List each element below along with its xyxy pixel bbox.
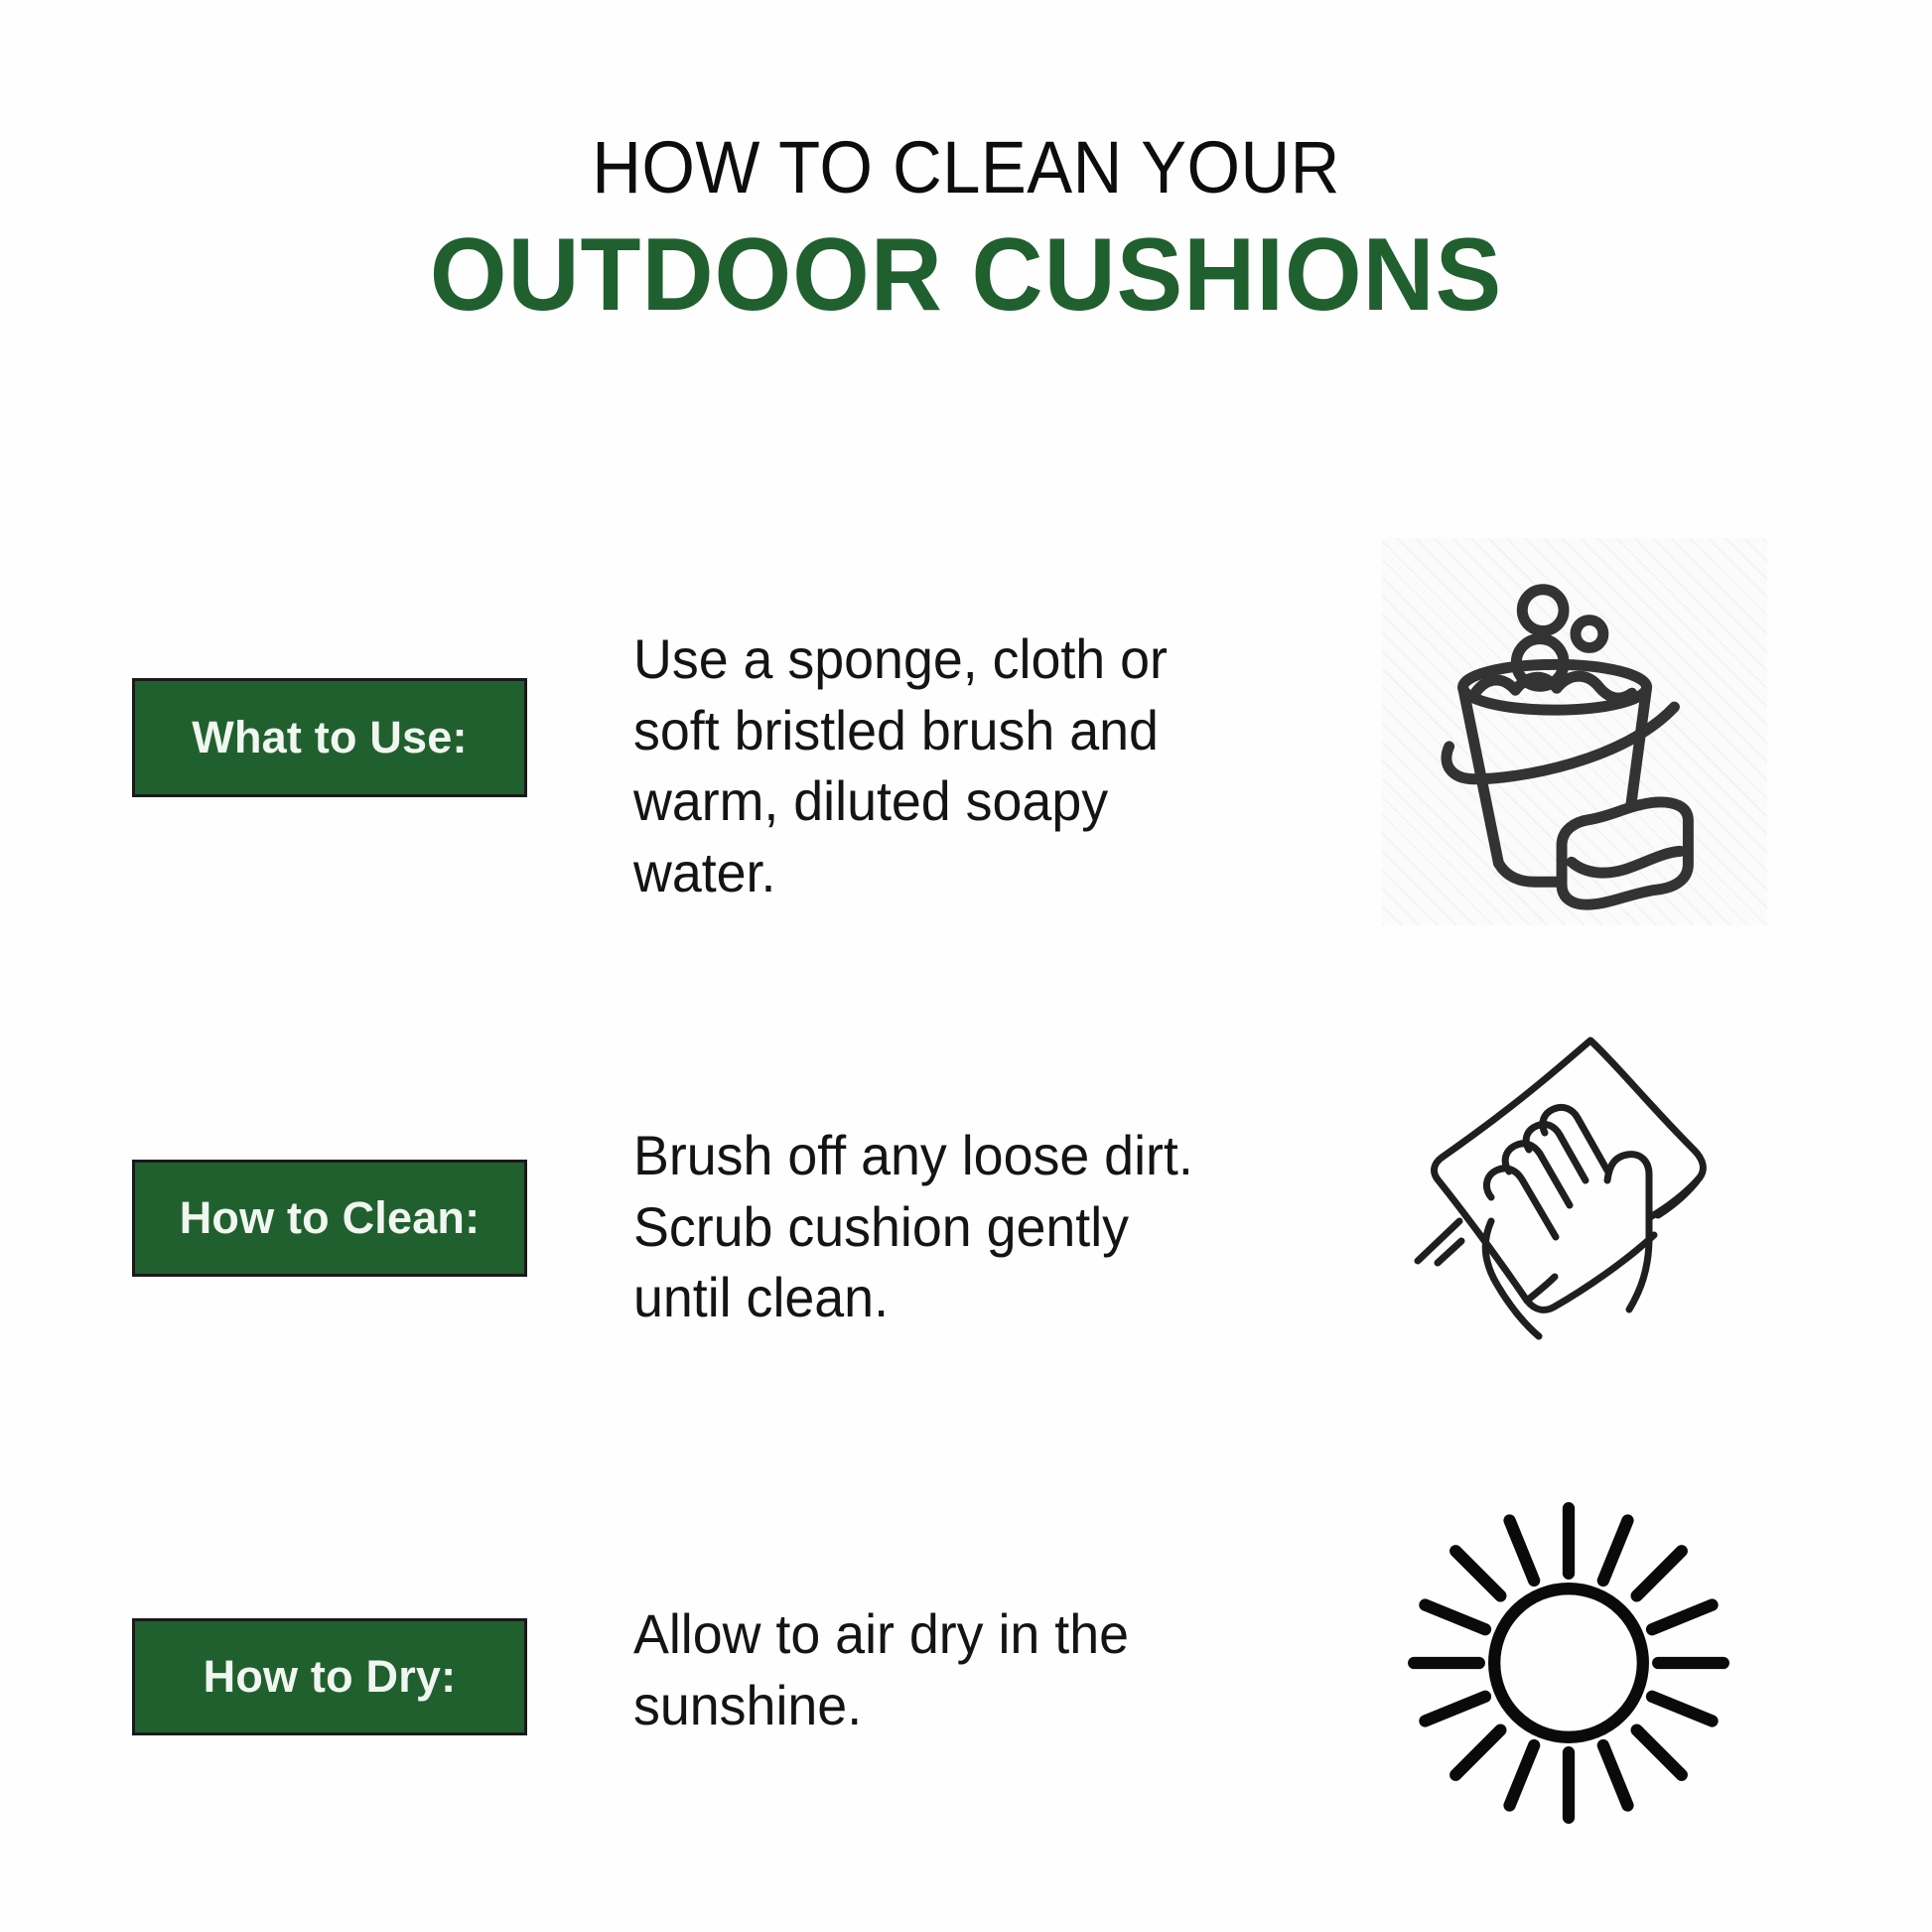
body-text-how-to-dry: Allow to air dry in the sunshine. [633,1598,1224,1740]
label-box-how-to-dry: How to Dry: [132,1618,527,1735]
hand-wiping-cloth-icon [1370,1003,1787,1340]
body-text-what-to-use: Use a sponge, cloth or soft bristled bru… [633,623,1243,908]
title-line-primary: HOW TO CLEAN YOUR [68,127,1864,209]
page-title: HOW TO CLEAN YOUR OUTDOOR CUSHIONS [0,127,1932,333]
section-how-to-clean: How to Clean: Brush off any loose dirt. … [0,1013,1932,1440]
label-box-how-to-clean: How to Clean: [132,1160,527,1277]
label-text-how-to-clean: How to Clean: [180,1192,481,1244]
infographic-page: HOW TO CLEAN YOUR OUTDOOR CUSHIONS What … [0,0,1932,1932]
section-what-to-use: What to Use: Use a sponge, cloth or soft… [0,526,1932,953]
sun-icon [1365,1459,1772,1866]
bucket-sponge-bubbles-icon [1382,538,1767,925]
label-text-how-to-dry: How to Dry: [204,1651,457,1703]
label-box-what-to-use: What to Use: [132,678,527,797]
body-text-how-to-clean: Brush off any loose dirt. Scrub cushion … [633,1120,1234,1333]
label-text-what-to-use: What to Use: [192,712,467,763]
section-how-to-dry: How to Dry: Allow to air dry in the suns… [0,1479,1932,1906]
title-line-secondary: OUTDOOR CUSHIONS [39,217,1893,333]
